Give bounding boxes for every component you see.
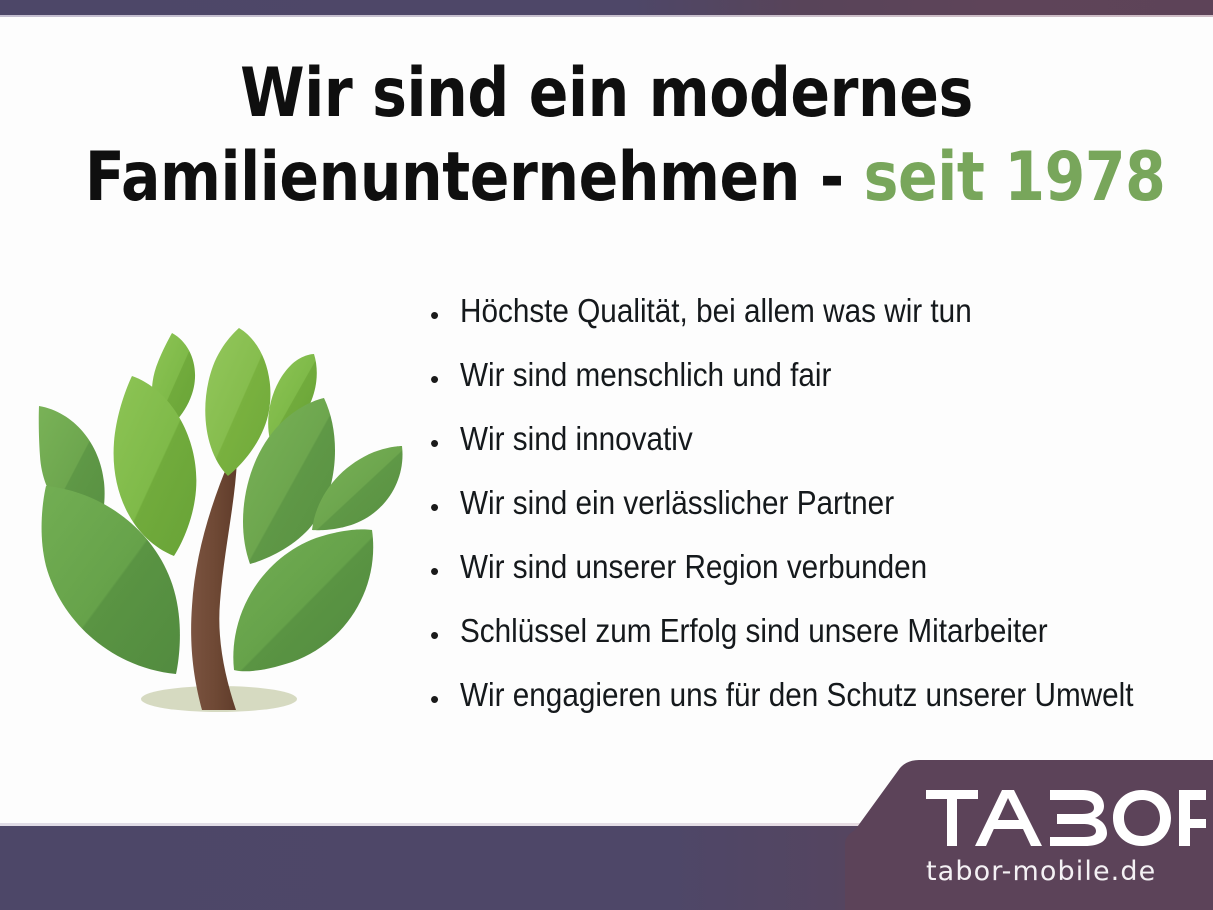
tabor-wordmark-icon: [926, 790, 1206, 846]
list-item: • Wir sind innovativ: [430, 416, 1200, 480]
bullet-marker-icon: •: [430, 608, 460, 648]
bullet-marker-icon: •: [430, 416, 460, 456]
slide-canvas: Wir sind ein modernes Familienunternehme…: [0, 0, 1213, 910]
tree-illustration: [24, 318, 416, 726]
list-item: • Wir sind unserer Region verbunden: [430, 544, 1200, 608]
list-item-label: Wir sind unserer Region verbunden: [460, 544, 1126, 590]
logo-url-text: tabor-mobile.de: [926, 856, 1201, 888]
page-title-line-2-main: Familienunternehmen -: [85, 138, 864, 217]
page-title-accent: seit 1978: [864, 138, 1166, 217]
list-item-label: Wir sind ein verlässlicher Partner: [460, 480, 1126, 526]
bullet-marker-icon: •: [430, 288, 460, 328]
top-accent-band: [0, 0, 1213, 15]
bullet-marker-icon: •: [430, 352, 460, 392]
list-item: • Schlüssel zum Erfolg sind unsere Mitar…: [430, 608, 1200, 672]
bullet-marker-icon: •: [430, 480, 460, 520]
list-item: • Höchste Qualität, bei allem was wir tu…: [430, 288, 1200, 352]
list-item: • Wir sind menschlich und fair: [430, 352, 1200, 416]
list-item: • Wir sind ein verlässlicher Partner: [430, 480, 1200, 544]
list-item-label: Schlüssel zum Erfolg sind unsere Mitarbe…: [460, 608, 1126, 654]
bullet-marker-icon: •: [430, 544, 460, 584]
page-title-line-2: Familienunternehmen - seit 1978: [85, 136, 1128, 220]
list-item-label: Wir engagieren uns für den Schutz unsere…: [460, 672, 1134, 718]
list-item-label: Höchste Qualität, bei allem was wir tun: [460, 288, 1126, 334]
page-title-line-1: Wir sind ein modernes: [85, 52, 1128, 136]
bullet-marker-icon: •: [430, 672, 460, 712]
value-list: • Höchste Qualität, bei allem was wir tu…: [430, 288, 1200, 736]
list-item-label: Wir sind innovativ: [460, 416, 1126, 462]
page-title: Wir sind ein modernes Familienunternehme…: [85, 52, 1128, 220]
top-band-hairline: [0, 15, 1213, 17]
list-item: • Wir engagieren uns für den Schutz unse…: [430, 672, 1200, 736]
tree-trunk: [191, 459, 237, 710]
list-item-label: Wir sind menschlich und fair: [460, 352, 1126, 398]
